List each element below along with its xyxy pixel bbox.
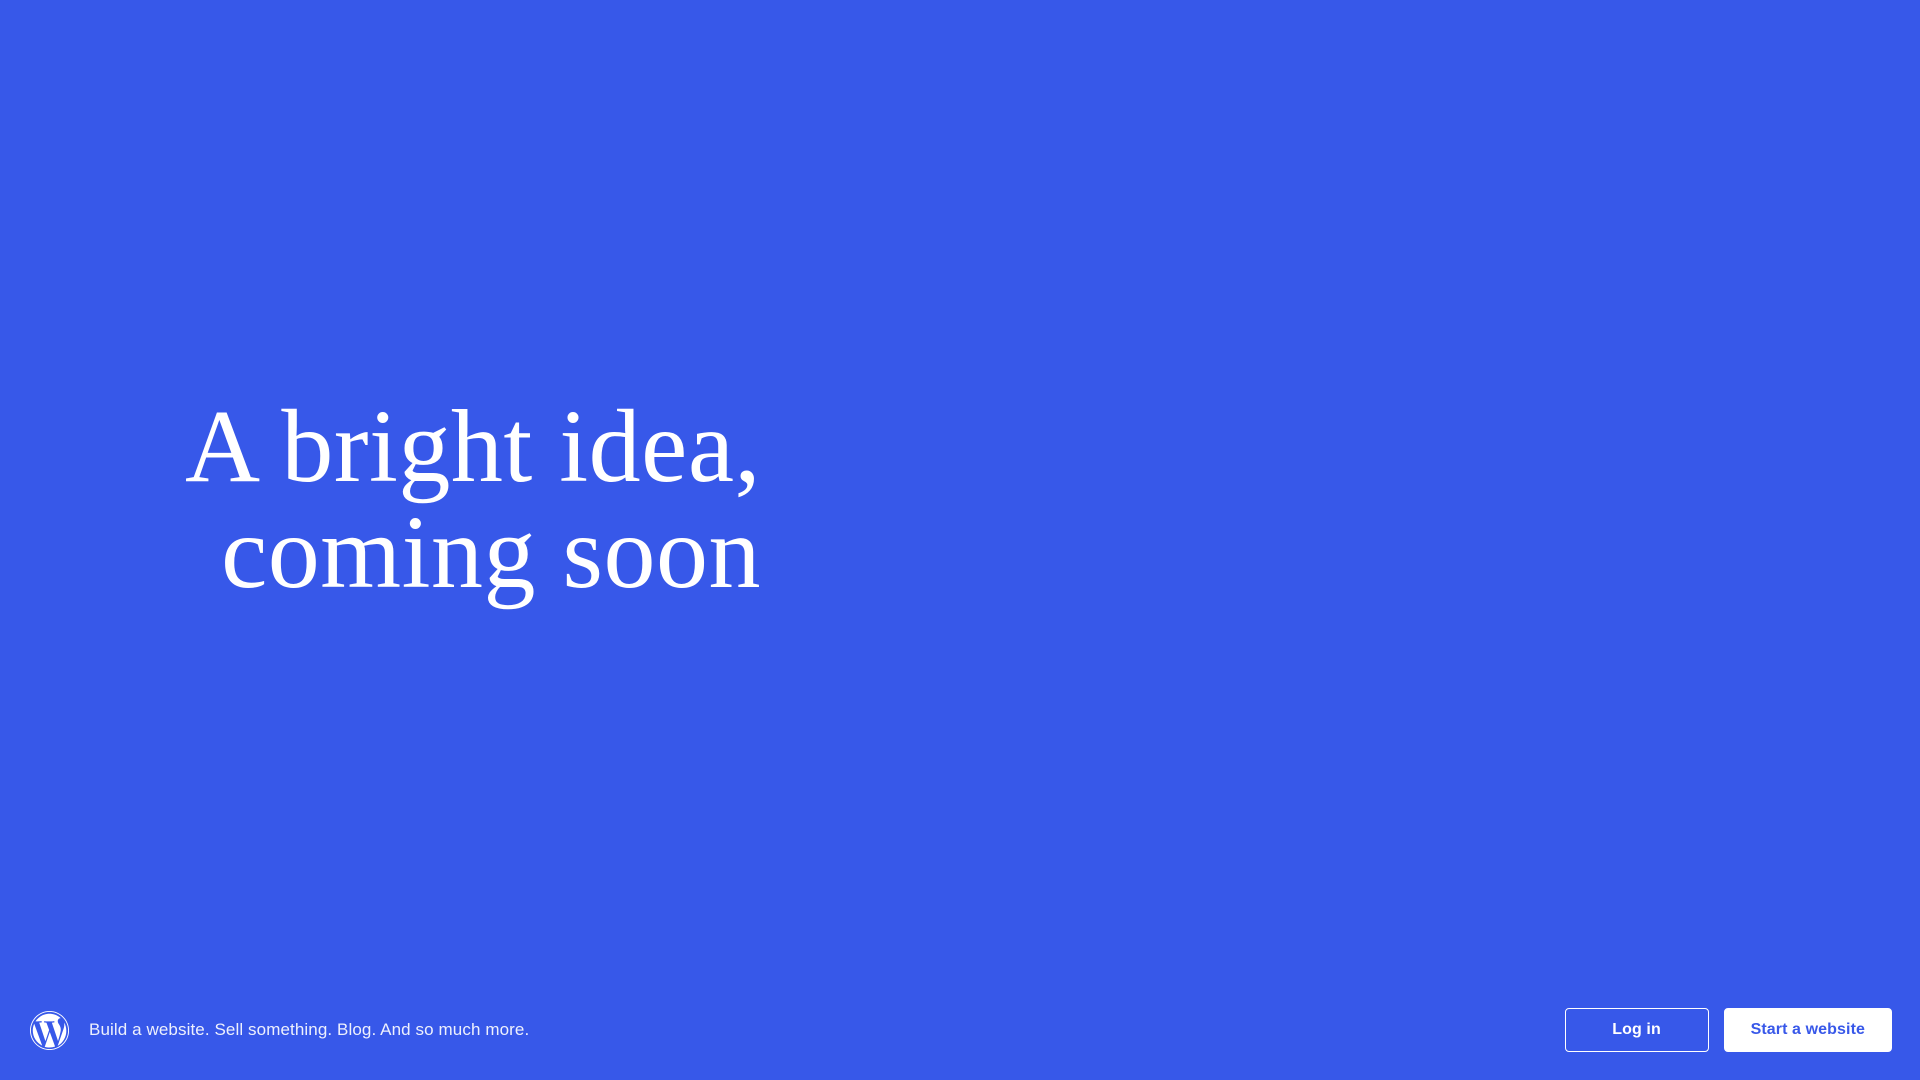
page-title: A bright idea, coming soon xyxy=(185,394,761,606)
footer-actions: Log in Start a website xyxy=(1565,1008,1892,1052)
start-a-website-button[interactable]: Start a website xyxy=(1724,1008,1892,1052)
hero-content: A bright idea, coming soon xyxy=(185,394,761,606)
coming-soon-page: A bright idea, coming soon Build a websi… xyxy=(0,0,1920,1080)
footer-branding: Build a website. Sell something. Blog. A… xyxy=(30,1011,1565,1050)
wordpress-icon[interactable] xyxy=(30,1011,69,1050)
footer-tagline: Build a website. Sell something. Blog. A… xyxy=(89,1020,529,1040)
hero-section: A bright idea, coming soon xyxy=(0,0,1920,1000)
footer-bar: Build a website. Sell something. Blog. A… xyxy=(0,980,1920,1080)
log-in-button[interactable]: Log in xyxy=(1565,1008,1709,1052)
